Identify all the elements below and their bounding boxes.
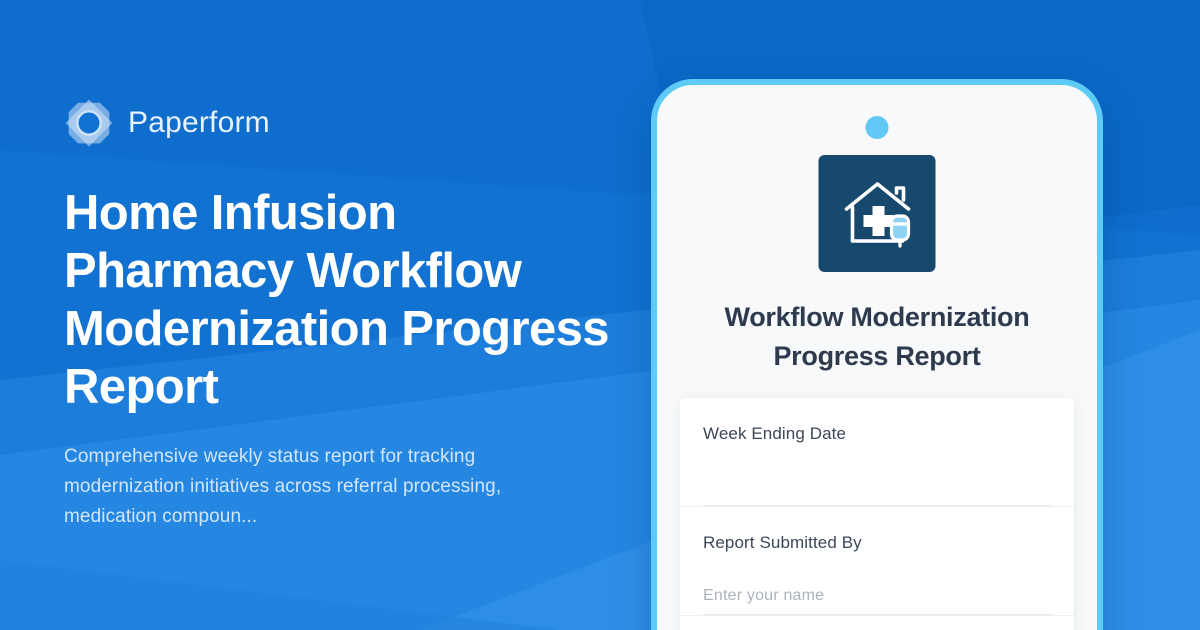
field-label: Week Ending Date (703, 422, 1051, 446)
report-submitted-by-input[interactable]: Enter your name (703, 563, 1051, 615)
paperform-logo-icon (64, 98, 114, 148)
form-field-report-submitted-by[interactable]: Report Submitted By Enter your name (680, 507, 1074, 616)
form-fields-list: Week Ending Date Report Submitted By Ent… (680, 398, 1074, 630)
form-field-week-ending-date[interactable]: Week Ending Date (680, 398, 1074, 507)
page-title: Home Infusion Pharmacy Workflow Moderniz… (64, 184, 624, 416)
week-ending-date-input[interactable] (703, 454, 1051, 506)
brand-name: Paperform (128, 106, 270, 140)
page-subtitle: Comprehensive weekly status report for t… (64, 442, 594, 532)
hero-content: Paperform Home Infusion Pharmacy Workflo… (64, 0, 624, 630)
home-infusion-icon (819, 155, 936, 272)
phone-mockup: Workflow Modernization Progress Report W… (651, 79, 1103, 630)
brand-lockup: Paperform (64, 98, 624, 148)
field-label: Report Submitted By (703, 531, 1051, 555)
form-field-next-partial[interactable] (680, 616, 1074, 630)
form-title: Workflow Modernization Progress Report (687, 298, 1067, 376)
social-share-card: Paperform Home Infusion Pharmacy Workflo… (0, 0, 1200, 630)
camera-dot-icon (866, 116, 889, 139)
field-placeholder: Enter your name (703, 587, 824, 614)
